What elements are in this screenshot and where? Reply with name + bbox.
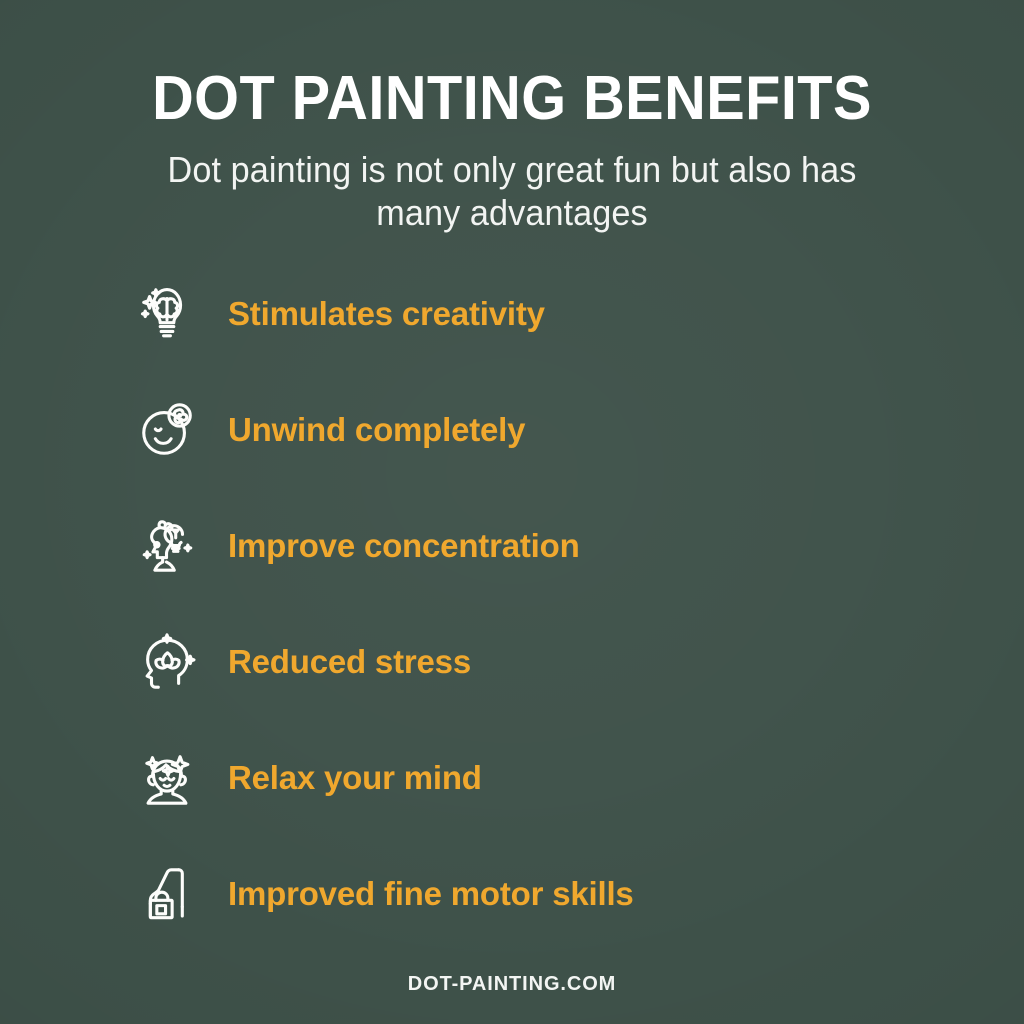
- list-item: Improve concentration: [132, 510, 932, 582]
- list-item-label: Improved fine motor skills: [228, 875, 634, 913]
- poster-canvas: DOT PAINTING BENEFITS Dot painting is no…: [0, 0, 1024, 1024]
- poster-header: DOT PAINTING BENEFITS Dot painting is no…: [0, 66, 1024, 234]
- benefits-list: Stimulates creativity Unwind completely: [132, 278, 932, 930]
- list-item: Stimulates creativity: [132, 278, 932, 350]
- list-item: Unwind completely: [132, 394, 932, 466]
- smiling-face-flower-icon: [132, 395, 202, 465]
- list-item-label: Improve concentration: [228, 527, 580, 565]
- relaxed-woman-stars-icon: [132, 743, 202, 813]
- lightbulb-brain-sparkle-icon: [132, 279, 202, 349]
- list-item-label: Reduced stress: [228, 643, 471, 681]
- list-item-label: Relax your mind: [228, 759, 482, 797]
- list-item: Relax your mind: [132, 742, 932, 814]
- footer-website[interactable]: DOT-PAINTING.COM: [0, 972, 1024, 996]
- head-lotus-sparkle-icon: [132, 627, 202, 697]
- head-profile-lightbulb-icon: [132, 511, 202, 581]
- list-item: Improved fine motor skills: [132, 858, 932, 930]
- list-item-label: Stimulates creativity: [228, 295, 545, 333]
- list-item-label: Unwind completely: [228, 411, 525, 449]
- hand-holding-block-icon: [132, 859, 202, 929]
- page-subtitle: Dot painting is not only great fun but a…: [151, 148, 873, 234]
- list-item: Reduced stress: [132, 626, 932, 698]
- page-title: DOT PAINTING BENEFITS: [36, 66, 988, 132]
